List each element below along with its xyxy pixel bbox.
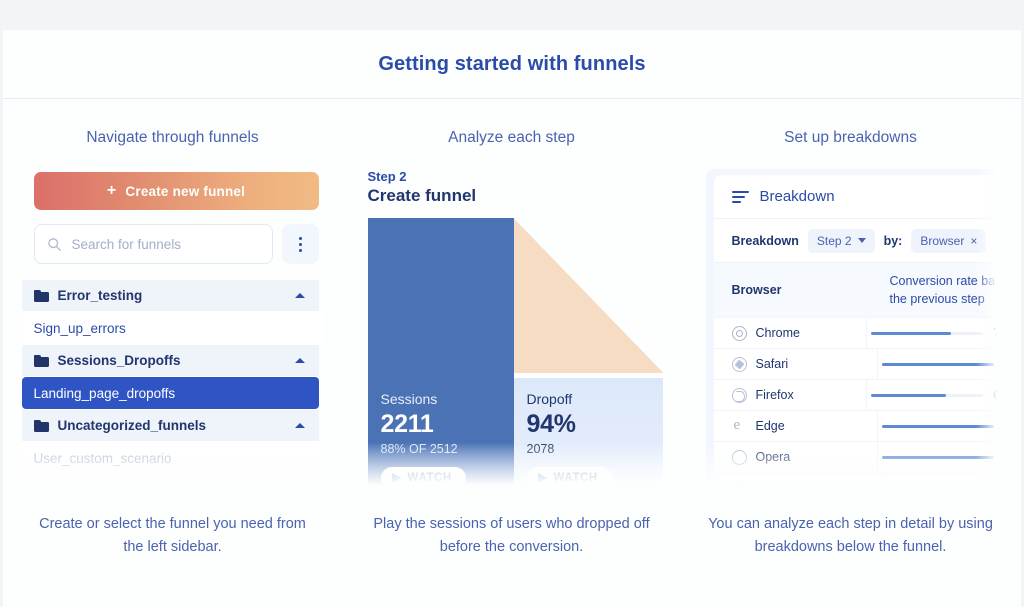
browser-name: Edge [756,419,785,433]
sidebar-item-user-custom-scenario[interactable]: User_custom_scenario [22,441,324,475]
breakdown-panel: Breakdown Breakdown Step 2 by: Browser [714,175,1002,489]
sidebar-item-landing-page-dropoffs[interactable]: Landing_page_dropoffs [22,377,319,409]
funnel-graph [361,218,663,378]
rate-bar [871,332,983,335]
sidebar-folder-sessions-dropoffs[interactable]: Sessions_Dropoffs [22,345,319,376]
dropoff-label: Dropoff [527,391,663,407]
watch-label: WATCH [554,472,598,484]
funnel-sessions-card: Sessions 2211 88% OF 2512 WATCH [368,378,514,489]
play-icon [538,473,547,483]
folder-label: Error_testing [58,288,286,303]
folder-label: Sessions_Dropoffs [58,353,286,368]
plus-icon: + [107,182,117,200]
breakdown-table-header: Browser Conversion rate based on the pre… [714,262,1002,317]
chevron-up-icon[interactable] [295,423,305,428]
chevron-up-icon[interactable] [295,358,305,363]
rate-bar [871,394,983,397]
column-title-navigate: Navigate through funnels [86,129,258,147]
breakdown-controls: Breakdown Step 2 by: Browser × [714,219,1002,262]
onboarding-card: Getting started with funnels Navigate th… [3,30,1021,607]
chevron-up-icon[interactable] [295,293,305,298]
chevron-down-icon [858,238,866,243]
chrome-icon [732,326,747,341]
sidebar-preview: + Create new funnel Search for funnels [22,169,324,489]
dimension-chip-value: Browser [920,234,964,248]
sidebar-more-button[interactable] [282,224,319,264]
edge-icon [732,419,747,434]
sidebar-folder-error-testing[interactable]: Error_testing [22,280,319,311]
column-breakdowns: Set up breakdowns Breakdown Breakdown St… [681,129,1020,559]
sessions-watch-button[interactable]: WATCH [381,467,466,489]
column-title-analyze: Analyze each step [448,129,575,147]
breakdown-panel-title: Breakdown [760,188,835,205]
browser-name: Unknown Browser [756,481,857,489]
search-icon [47,237,62,252]
breakdown-icon [732,191,749,203]
funnel-stat-cards: Sessions 2211 88% OF 2512 WATCH Dropoff … [361,378,663,489]
firefox-icon [732,388,747,403]
kebab-dot-icon [299,243,302,246]
kebab-dot-icon [299,249,302,252]
dropoff-subtext: 2078 [527,442,663,456]
column-navigate: Navigate through funnels + Create new fu… [3,129,342,559]
table-row[interactable]: Opera 100% [714,441,1002,472]
opera-icon [732,450,747,465]
search-placeholder: Search for funnels [72,237,182,252]
funnel-step-name: Create funnel [361,186,663,206]
columns-row: Navigate through funnels + Create new fu… [3,99,1021,559]
step-select-value: Step 2 [817,234,852,248]
funnel-dropoff-card: Dropoff 94% 2078 WATCH [514,378,663,489]
browser-name: Opera [756,450,791,464]
search-input[interactable]: Search for funnels [34,224,273,264]
funnels-list: Error_testing Sign_up_errors Sessions_Dr… [22,280,324,475]
table-row[interactable]: Edge 100% [714,410,1002,441]
folder-icon [34,355,49,367]
sidebar-search-row: Search for funnels [34,224,319,264]
funnel-step-card: Step 2 Create funnel Sessions 2211 88% O… [361,169,663,489]
watch-label: WATCH [408,472,452,484]
create-new-funnel-label: Create new funnel [125,184,245,199]
funnel-preview: Step 2 Create funnel Sessions 2211 88% O… [361,169,663,489]
sidebar-folder-uncategorized-funnels[interactable]: Uncategorized_funnels [22,410,319,441]
safari-icon [732,357,747,372]
breakdown-preview: Breakdown Breakdown Step 2 by: Browser [700,169,1002,489]
folder-label: Uncategorized_funnels [58,418,286,433]
browser-name: Firefox [756,388,794,402]
browser-name: Chrome [756,326,800,340]
breakdown-outer: Breakdown Breakdown Step 2 by: Browser [706,169,1002,489]
column-caption-analyze: Play the sessions of users who dropped o… [367,513,657,559]
funnels-sidebar: + Create new funnel Search for funnels [22,172,324,475]
dropoff-watch-button[interactable]: WATCH [527,467,612,489]
sessions-label: Sessions [381,391,514,407]
card-header: Getting started with funnels [3,30,1021,99]
create-new-funnel-button[interactable]: + Create new funnel [34,172,319,210]
browser-name: Safari [756,357,789,371]
column-caption-breakdowns: You can analyze each step in detail by u… [706,513,996,559]
right-fade-overlay [976,169,1002,489]
kebab-dot-icon [299,237,302,240]
sessions-subtext: 88% OF 2512 [381,442,514,456]
column-title-breakdowns: Set up breakdowns [784,129,917,147]
sessions-value: 2211 [381,410,514,439]
by-label: by: [884,234,903,248]
play-icon [392,473,401,483]
breakdown-panel-header: Breakdown [714,175,1002,219]
column-caption-navigate: Create or select the funnel you need fro… [28,513,318,559]
dropoff-value: 94% [527,410,663,439]
page-title: Getting started with funnels [378,53,645,76]
funnel-step-label: Step 2 [361,169,663,184]
unknown-browser-icon [732,481,747,489]
funnel-dropoff-wedge [514,218,663,373]
sidebar-item-sign-up-errors[interactable]: Sign_up_errors [22,311,324,345]
step-select[interactable]: Step 2 [808,229,875,253]
table-row[interactable]: Safari 100% [714,348,1002,379]
folder-icon [34,290,49,302]
column-analyze: Analyze each step Step 2 Create funnel S… [342,129,681,559]
column-header-browser: Browser [714,272,886,308]
top-gray-band [0,0,1024,30]
table-row[interactable]: Chrome 70.97% [714,317,1002,348]
table-row[interactable]: Firefox 66.67% [714,379,1002,410]
funnel-sessions-bar [368,218,514,378]
table-row[interactable]: Unknown Browser 50% [714,472,1002,489]
breakdown-control-label: Breakdown [732,234,799,248]
folder-icon [34,420,49,432]
